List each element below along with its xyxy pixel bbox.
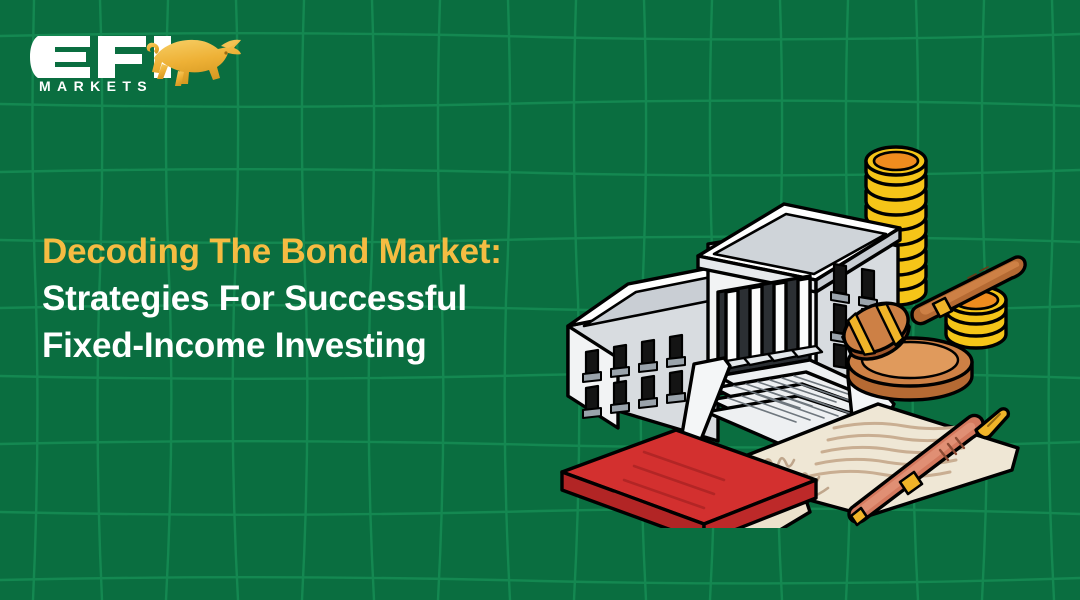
headline: Decoding The Bond Market: Strategies For… <box>42 228 562 369</box>
headline-line-1: Decoding The Bond Market: <box>42 228 562 275</box>
promo-banner: MARKETS <box>0 0 1080 600</box>
headline-line-3: Fixed-Income Investing <box>42 322 562 369</box>
headline-line-2: Strategies For Successful <box>42 275 562 322</box>
bond-market-illustration <box>548 96 1048 528</box>
logo-wordmark <box>30 36 171 78</box>
brand-logo[interactable]: MARKETS <box>28 18 243 94</box>
logo-subtext: MARKETS <box>39 78 153 94</box>
